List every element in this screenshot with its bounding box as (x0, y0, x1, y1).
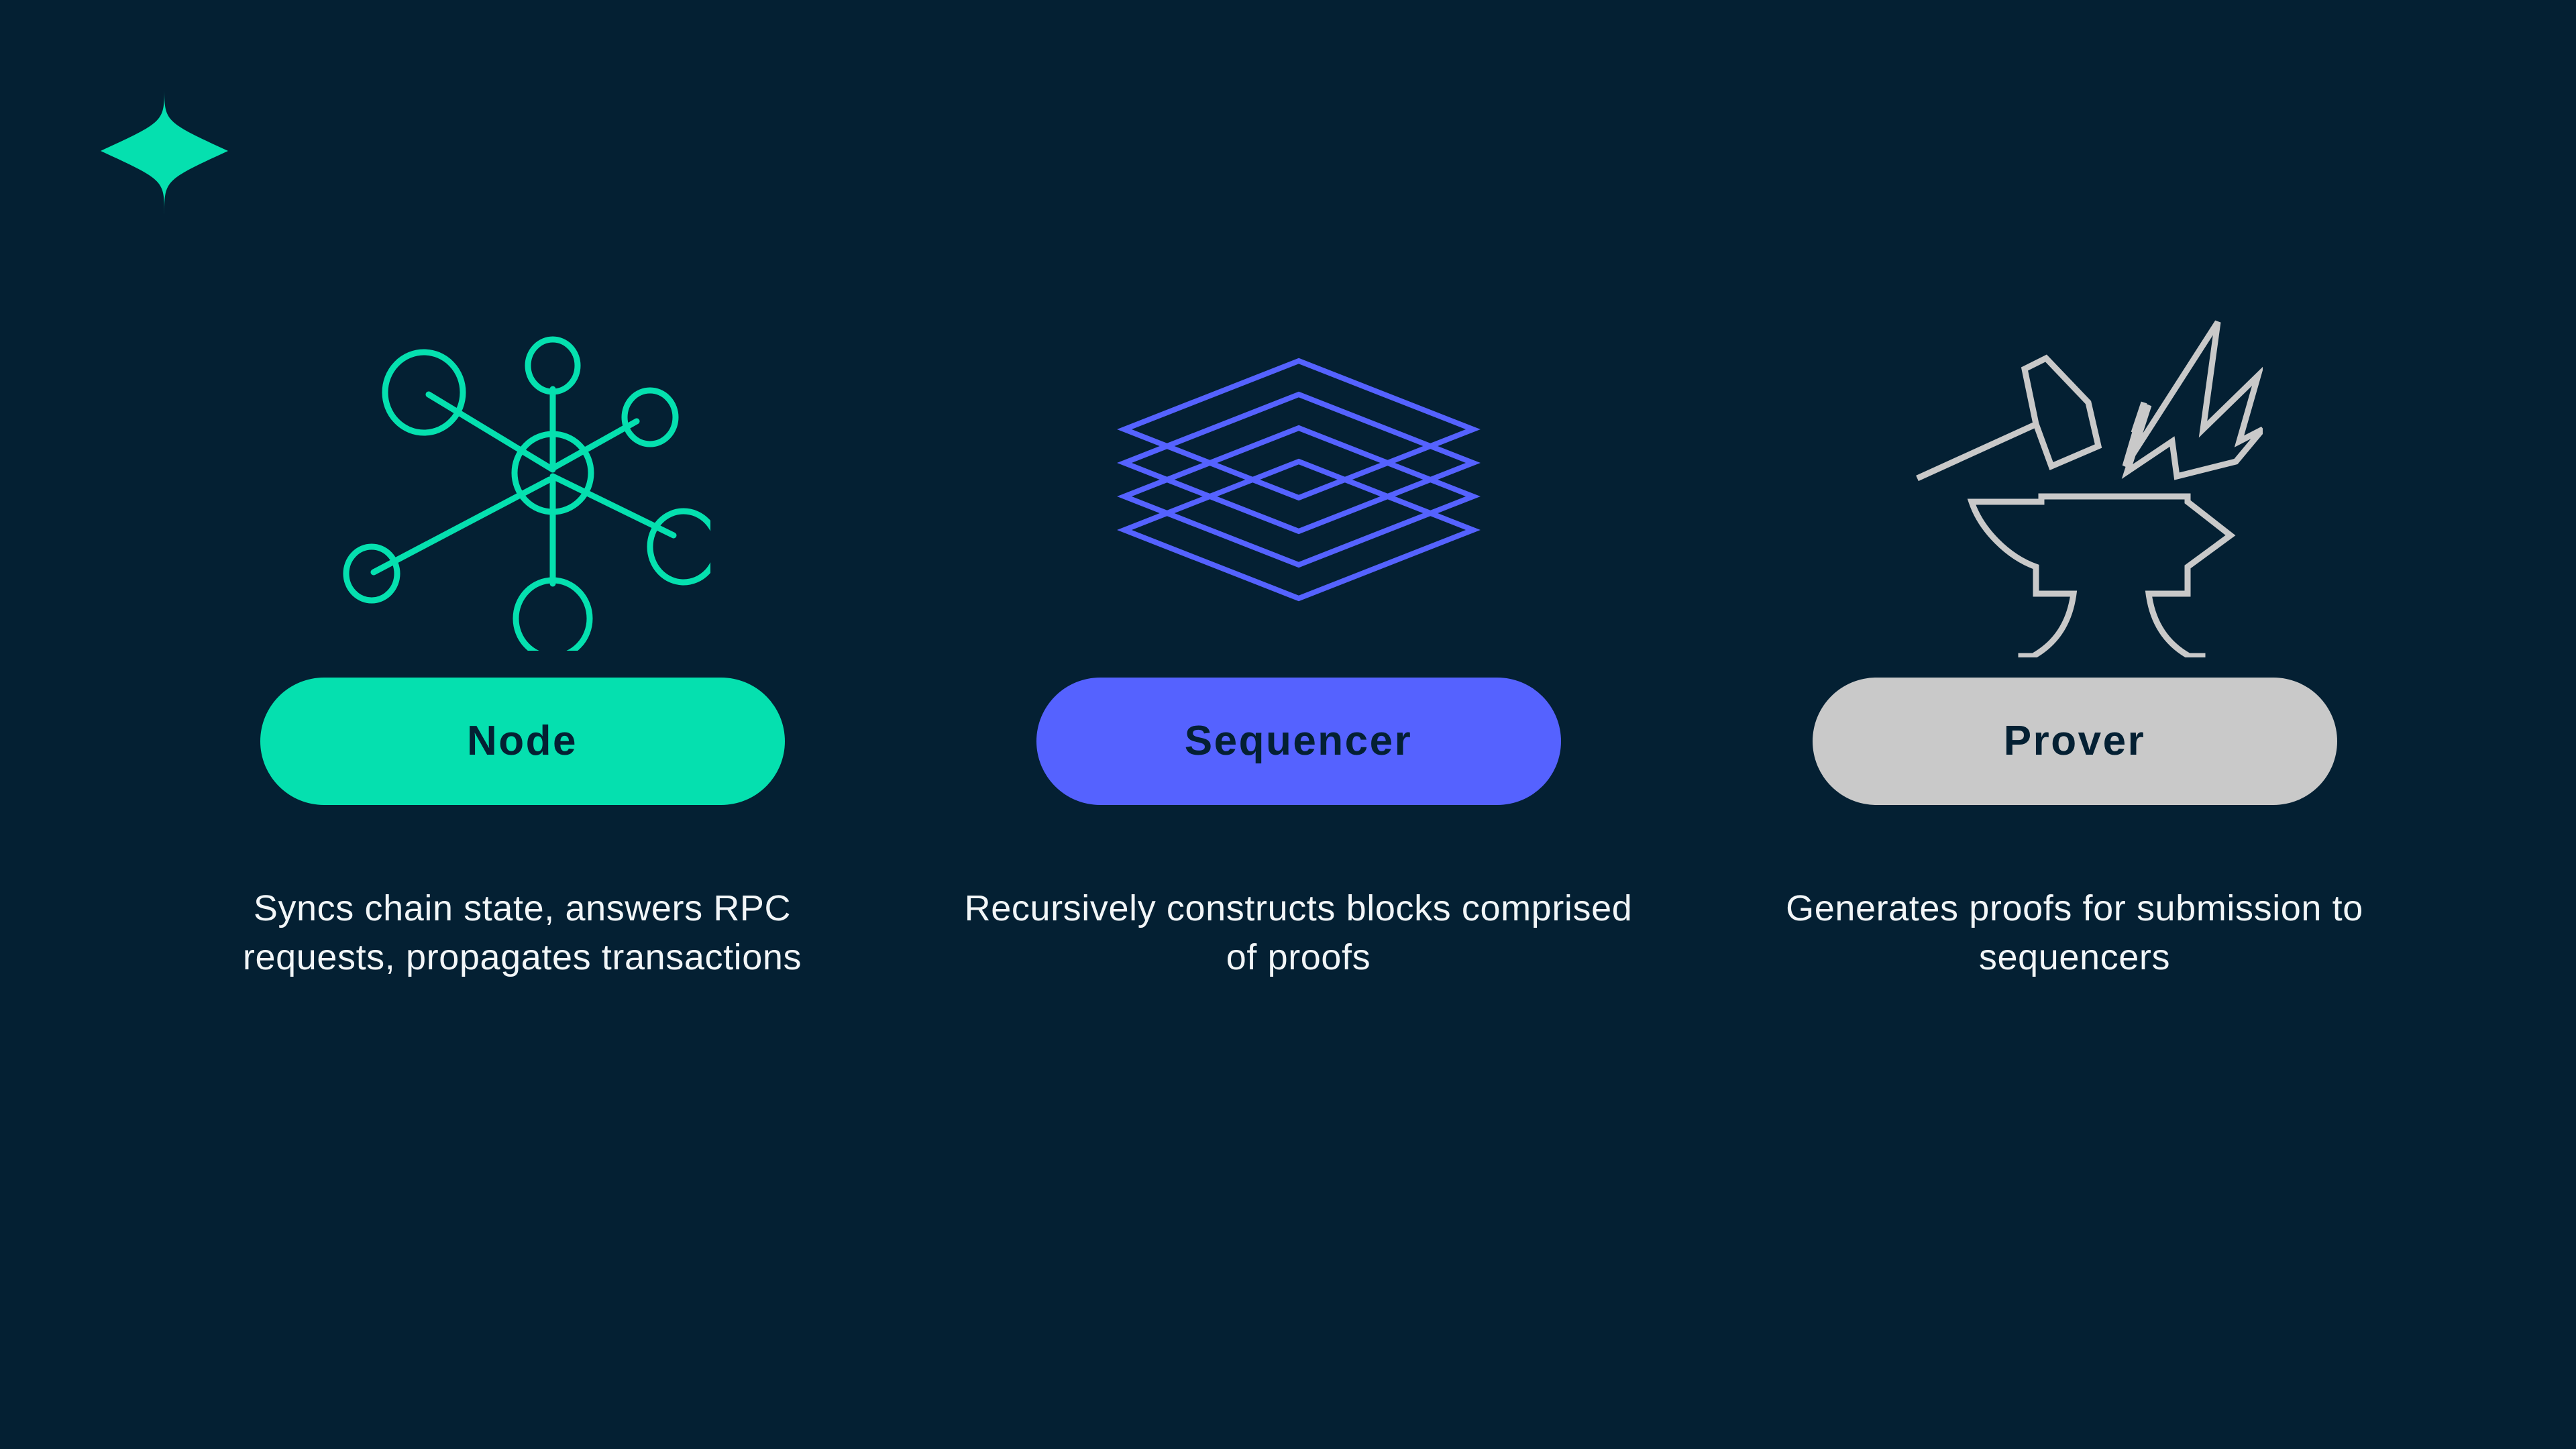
column-prover: Prover Generates proofs for submission t… (1686, 288, 2463, 983)
pill-label-prover: Prover (2004, 720, 2145, 762)
sparkle-star-logo (101, 87, 228, 215)
anvil-hammer-spark-icon (1867, 288, 2283, 678)
description-sequencer: Recursively constructs blocks comprised … (963, 884, 1634, 983)
pill-button-node[interactable]: Node (260, 678, 785, 805)
network-nodes-icon (315, 288, 731, 678)
pill-label-node: Node (467, 720, 578, 762)
description-node: Syncs chain state, answers RPC requests,… (187, 884, 858, 983)
pill-button-sequencer[interactable]: Sequencer (1036, 678, 1561, 805)
column-node: Node Syncs chain state, answers RPC requ… (134, 288, 910, 983)
pill-button-prover[interactable]: Prover (1813, 678, 2337, 805)
role-columns: Node Syncs chain state, answers RPC requ… (0, 288, 2576, 983)
column-sequencer: Sequencer Recursively constructs blocks … (910, 288, 1686, 983)
pill-label-sequencer: Sequencer (1185, 720, 1413, 762)
slide-canvas: Node Syncs chain state, answers RPC requ… (0, 0, 2576, 1449)
description-prover: Generates proofs for submission to seque… (1739, 884, 2410, 983)
stacked-layers-icon (1091, 288, 1507, 678)
